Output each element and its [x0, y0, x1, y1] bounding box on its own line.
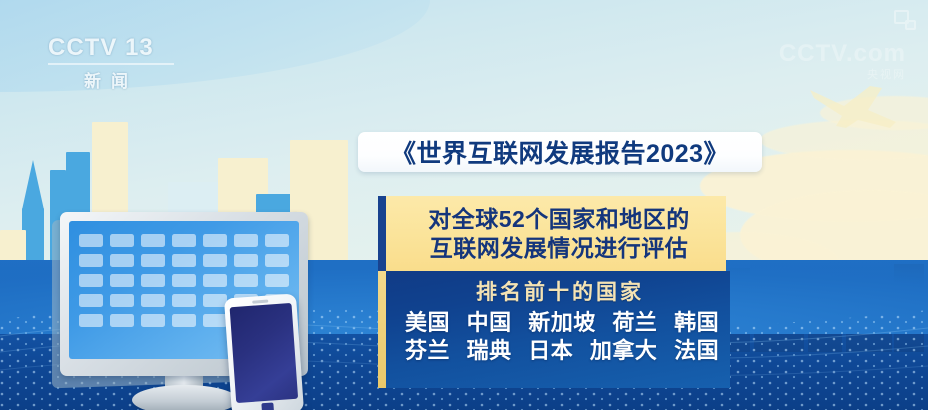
broadcast-graphic: 《世界互联网发展报告2023》 对全球52个国家和地区的 互联网发展情况进行评估…	[0, 0, 928, 410]
page-title-text: 《世界互联网发展报告2023》	[391, 134, 729, 170]
country-item: 芬兰	[405, 338, 450, 363]
summary-accent-bar	[378, 196, 386, 271]
page-title: 《世界互联网发展报告2023》	[358, 132, 762, 172]
summary-panel: 对全球52个国家和地区的 互联网发展情况进行评估	[378, 196, 726, 271]
country-item: 加拿大	[590, 338, 658, 363]
ranking-panel: 排名前十的国家 美国 中国 新加坡 荷兰 韩国 芬兰 瑞典 日本 加拿大 法国	[378, 271, 730, 388]
country-item: 新加坡	[528, 310, 596, 335]
ranking-heading: 排名前十的国家	[476, 281, 644, 304]
smartphone-icon	[224, 294, 304, 410]
picture-in-picture-icon[interactable]	[894, 10, 916, 30]
country-row-2: 芬兰 瑞典 日本 加拿大 法国	[400, 337, 720, 365]
country-item: 法国	[674, 338, 719, 363]
country-item: 韩国	[674, 310, 719, 335]
ranking-accent-bar	[378, 271, 386, 388]
cctv-logo-rule	[48, 63, 174, 65]
cctv-com-watermark: CCTV.com 央视网	[779, 40, 906, 82]
watermark-sub-text: 央视网	[779, 66, 906, 82]
country-item: 美国	[405, 310, 450, 335]
airplane-icon	[800, 78, 904, 130]
skyline-spire	[22, 160, 44, 210]
country-item: 中国	[467, 310, 512, 335]
country-item: 荷兰	[612, 310, 657, 335]
cctv-logo-text: CCTV 13	[48, 36, 174, 60]
summary-line-2: 互联网发展情况进行评估	[402, 234, 716, 262]
summary-line-1: 对全球52个国家和地区的	[402, 205, 716, 233]
cctv-channel-logo: CCTV 13 新闻	[48, 36, 174, 94]
watermark-main-text: CCTV.com	[779, 40, 906, 68]
country-item: 瑞典	[467, 338, 512, 363]
cctv-logo-subtitle: 新闻	[48, 67, 174, 92]
country-row-1: 美国 中国 新加坡 荷兰 韩国	[400, 309, 720, 337]
country-item: 日本	[528, 338, 573, 363]
